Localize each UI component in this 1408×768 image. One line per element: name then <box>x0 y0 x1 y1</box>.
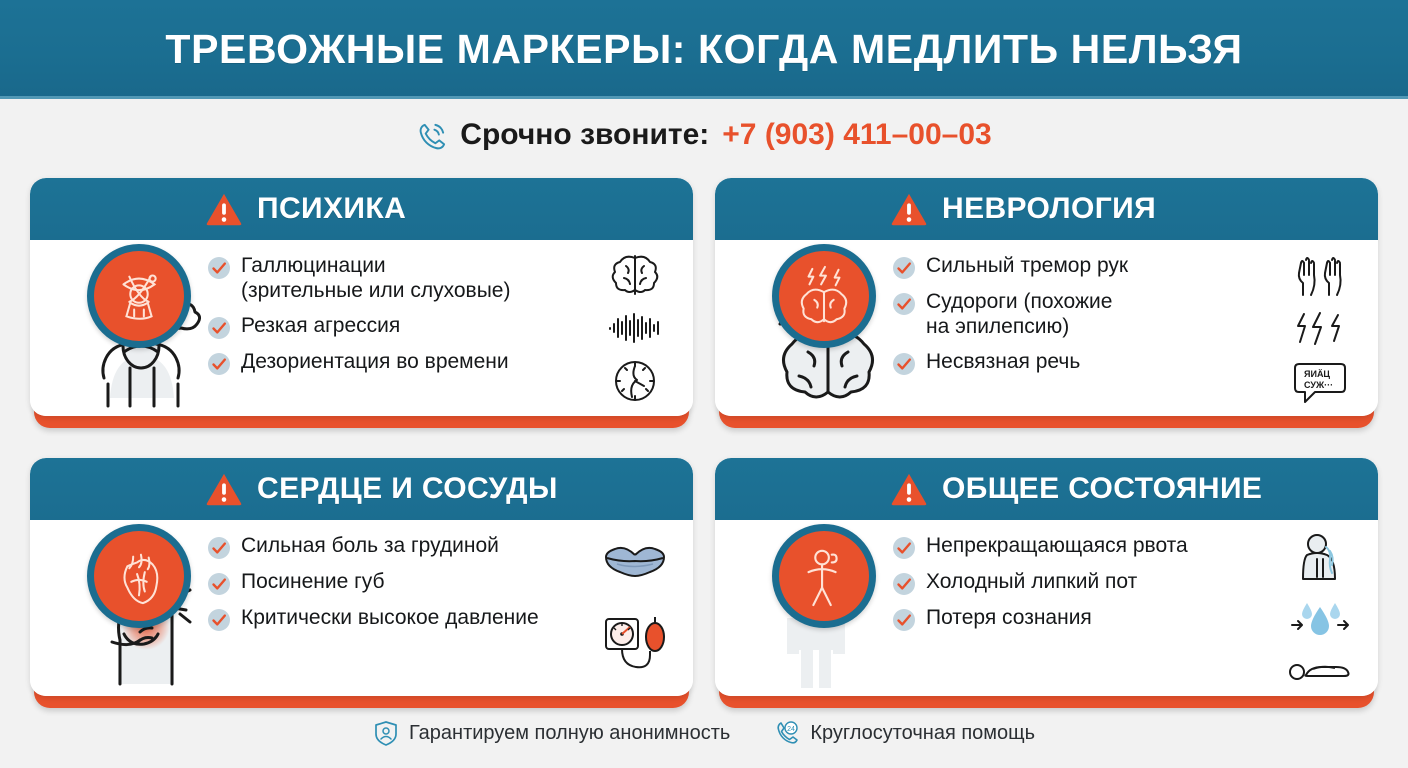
card-header: ПСИХИКА <box>30 178 693 240</box>
list-item-label: Резкая агрессия <box>241 314 400 339</box>
check-icon <box>208 353 230 375</box>
call-to-action-phone-row: Срочно звоните: +7 (903) 411–00–03 <box>0 99 1408 171</box>
list-item-label: Потеря сознания <box>926 606 1092 631</box>
list-item: Галлюцинации (зрительные или слуховые) <box>208 254 608 303</box>
symptom-list: Непрекращающаяся рвота Холодный липкий п… <box>893 534 1293 631</box>
warning-triangle-icon <box>205 472 243 506</box>
card-heart: СЕРДЦЕ И СОСУДЫ <box>30 458 693 708</box>
vomiting-person-icon <box>1295 533 1345 581</box>
check-icon <box>208 537 230 559</box>
person-nausea-icon <box>772 524 876 628</box>
card-body: Непрекращающаяся рвота Холодный липкий п… <box>715 520 1378 696</box>
check-icon <box>893 257 915 279</box>
phone-call-icon <box>416 121 447 152</box>
page-header-banner: ТРЕВОЖНЫЕ МАРКЕРЫ: КОГДА МЕДЛИТЬ НЕЛЬЗЯ <box>0 0 1408 99</box>
card-side-icons: ЯИÄЦ СУЖ··· <box>1278 244 1362 412</box>
symptom-list: Сильная боль за грудиной Посинение губ <box>208 534 608 631</box>
warning-triangle-icon <box>205 192 243 226</box>
broken-clock-icon <box>612 358 658 404</box>
confused-head-icon <box>87 244 191 348</box>
list-item-label: Сильный тремор рук <box>926 254 1128 279</box>
svg-text:ЯИÄЦ: ЯИÄЦ <box>1304 369 1330 379</box>
unconscious-person-icon <box>1289 657 1351 683</box>
phone-number[interactable]: +7 (903) 411–00–03 <box>722 118 991 152</box>
list-item-label: Посинение губ <box>241 570 385 595</box>
check-icon <box>893 609 915 631</box>
list-item: Потеря сознания <box>893 606 1293 631</box>
blue-lips-icon <box>604 543 666 577</box>
list-item: Посинение губ <box>208 570 608 595</box>
check-icon <box>893 293 915 315</box>
card-neurology: НЕВРОЛОГИЯ <box>715 178 1378 428</box>
shaking-hands-icon <box>1291 251 1349 297</box>
brain-top-icon <box>610 252 660 298</box>
check-icon <box>208 573 230 595</box>
list-item: Резкая агрессия <box>208 314 608 339</box>
sweat-drops-icon <box>1290 599 1350 639</box>
phone-label: Срочно звоните: <box>460 118 709 152</box>
list-item: Сильная боль за грудиной <box>208 534 608 559</box>
card-title: ОБЩЕЕ СОСТОЯНИЕ <box>942 472 1262 506</box>
check-icon <box>893 353 915 375</box>
symptom-cards-grid: ПСИХИКА <box>30 178 1378 708</box>
list-item: Холодный липкий пот <box>893 570 1293 595</box>
card-header: СЕРДЦЕ И СОСУДЫ <box>30 458 693 520</box>
heart-anatomy-icon <box>87 524 191 628</box>
card-general: ОБЩЕЕ СОСТОЯНИЕ <box>715 458 1378 708</box>
list-item: Непрекращающаяся рвота <box>893 534 1293 559</box>
sound-wave-icon <box>607 313 663 343</box>
list-item-label: Сильная боль за грудиной <box>241 534 499 559</box>
card-side-icons <box>593 524 677 692</box>
warning-triangle-icon <box>890 192 928 226</box>
card-body: Галлюцинации (зрительные или слуховые) Р… <box>30 240 693 416</box>
infographic-page: ТРЕВОЖНЫЕ МАРКЕРЫ: КОГДА МЕДЛИТЬ НЕЛЬЗЯ … <box>0 0 1408 768</box>
footer-label: Круглосуточная помощь <box>810 722 1035 745</box>
check-icon <box>208 257 230 279</box>
card-body: Сильный тремор рук Судороги (похожие на … <box>715 240 1378 416</box>
svg-text:СУЖ···: СУЖ··· <box>1304 380 1333 390</box>
card-title: НЕВРОЛОГИЯ <box>942 192 1156 226</box>
list-item-label: Несвязная речь <box>926 350 1080 375</box>
card-header: ОБЩЕЕ СОСТОЯНИЕ <box>715 458 1378 520</box>
check-icon <box>893 573 915 595</box>
symptom-list: Галлюцинации (зрительные или слуховые) Р… <box>208 254 608 375</box>
check-icon <box>208 609 230 631</box>
card-side-icons <box>1278 524 1362 692</box>
garbled-speech-bubble-icon: ЯИÄЦ СУЖ··· <box>1293 361 1347 405</box>
list-item: Сильный тремор рук <box>893 254 1293 279</box>
list-item-label: Холодный липкий пот <box>926 570 1137 595</box>
check-icon <box>208 317 230 339</box>
page-title: ТРЕВОЖНЫЕ МАРКЕРЫ: КОГДА МЕДЛИТЬ НЕЛЬЗЯ <box>165 26 1242 73</box>
card-psyche: ПСИХИКА <box>30 178 693 428</box>
list-item: Судороги (похожие на эпилепсию) <box>893 290 1293 339</box>
shield-person-icon <box>373 720 399 746</box>
card-body: Сильная боль за грудиной Посинение губ <box>30 520 693 696</box>
blood-pressure-monitor-icon <box>603 615 667 673</box>
list-item: Несвязная речь <box>893 350 1293 375</box>
svg-text:24: 24 <box>787 726 795 733</box>
footer-item-24h: 24 Круглосуточная помощь <box>774 720 1035 746</box>
list-item: Критически высокое давление <box>208 606 608 631</box>
footer-label: Гарантируем полную анонимность <box>409 722 730 745</box>
phone-24h-icon: 24 <box>774 720 800 746</box>
list-item-label: Галлюцинации (зрительные или слуховые) <box>241 254 510 303</box>
list-item-label: Дезориентация во времени <box>241 350 509 375</box>
card-side-icons <box>593 244 677 412</box>
list-item-label: Непрекращающаяся рвота <box>926 534 1188 559</box>
symptom-list: Сильный тремор рук Судороги (похожие на … <box>893 254 1293 375</box>
brain-lightning-icon <box>772 244 876 348</box>
list-item: Дезориентация во времени <box>208 350 608 375</box>
card-title: СЕРДЦЕ И СОСУДЫ <box>257 472 558 506</box>
card-header: НЕВРОЛОГИЯ <box>715 178 1378 240</box>
check-icon <box>893 537 915 559</box>
warning-triangle-icon <box>890 472 928 506</box>
lightning-bolts-icon <box>1294 312 1346 346</box>
list-item-label: Критически высокое давление <box>241 606 539 631</box>
card-title: ПСИХИКА <box>257 192 406 226</box>
footer-badges: Гарантируем полную анонимность 24 Кругло… <box>0 720 1408 746</box>
footer-item-anonymity: Гарантируем полную анонимность <box>373 720 730 746</box>
list-item-label: Судороги (похожие на эпилепсию) <box>926 290 1112 339</box>
